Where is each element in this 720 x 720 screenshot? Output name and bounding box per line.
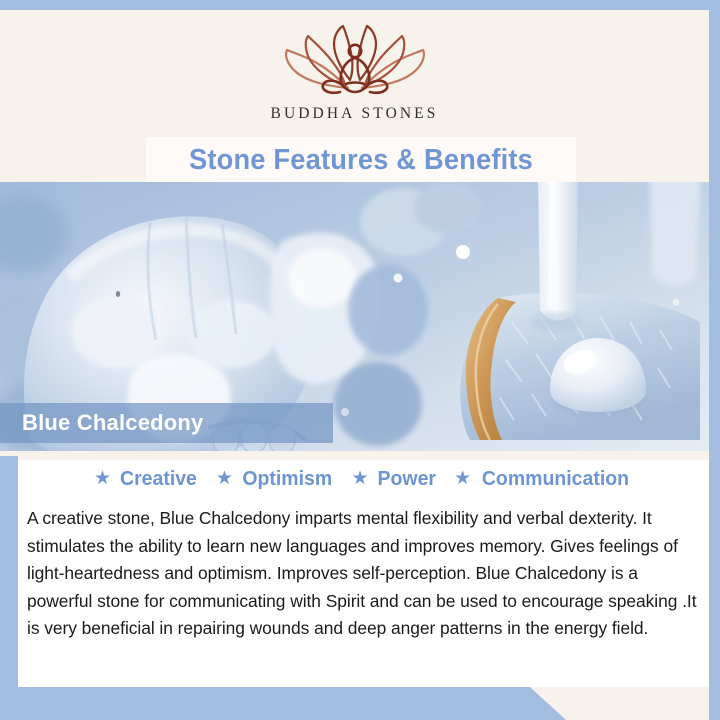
infographic-page: BUDDHA STONES Stone Features & Benefits xyxy=(0,0,720,720)
keyword-label: Optimism xyxy=(242,467,332,491)
star-icon: ★ xyxy=(94,469,111,488)
page-title: Stone Features & Benefits xyxy=(189,144,533,177)
star-icon: ★ xyxy=(216,469,233,488)
content-panel: ★ Creative ★ Optimism ★ Power ★ Communic… xyxy=(18,460,709,687)
description-text: A creative stone, Blue Chalcedony impart… xyxy=(27,505,700,643)
lotus-meditation-figure-icon xyxy=(270,24,440,102)
title-banner: Stone Features & Benefits xyxy=(146,137,576,184)
frame-top-border xyxy=(0,0,720,10)
frame-left-border xyxy=(0,456,18,720)
content-top-strip xyxy=(18,451,709,460)
star-icon: ★ xyxy=(352,469,369,488)
keyword-list: ★ Creative ★ Optimism ★ Power ★ Communic… xyxy=(18,467,709,491)
star-icon: ★ xyxy=(454,469,471,488)
stone-photo: Blue Chalcedony xyxy=(0,182,709,451)
header: BUDDHA STONES Stone Features & Benefits xyxy=(0,10,709,182)
keyword-item-power: ★ Power xyxy=(352,467,438,491)
frame-right-border xyxy=(709,0,720,720)
keyword-item-optimism: ★ Optimism xyxy=(216,467,335,491)
keyword-item-creative: ★ Creative xyxy=(94,467,199,491)
keyword-label: Creative xyxy=(120,467,197,491)
brand-wordmark: BUDDHA STONES xyxy=(0,105,709,123)
keyword-label: Communication xyxy=(482,467,629,491)
brand-logo: BUDDHA STONES xyxy=(0,24,709,123)
photo-caption-text: Blue Chalcedony xyxy=(0,410,203,436)
keyword-label: Power xyxy=(377,467,435,491)
frame-bottom-border xyxy=(0,687,566,720)
keyword-item-communication: ★ Communication xyxy=(454,467,633,491)
photo-caption: Blue Chalcedony xyxy=(0,403,333,443)
